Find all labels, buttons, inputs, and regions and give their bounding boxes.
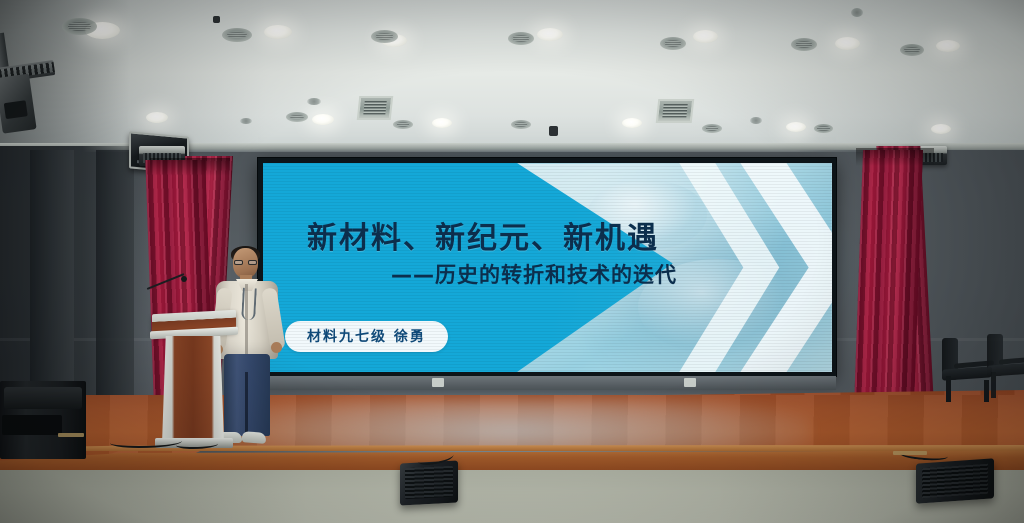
presenter-shoe-right [242, 431, 267, 444]
ceiling-vent-icon [393, 120, 413, 129]
ceiling-vent-icon [286, 112, 308, 122]
slide-viewport: 新材料、新纪元、新机遇 ——历史的转折和技术的迭代 材料九七级 徐勇 [263, 163, 832, 372]
ceiling-sensor-icon [240, 118, 252, 124]
ceiling-vent-icon [660, 37, 686, 50]
wooden-lectern [155, 312, 233, 444]
stage-edge-shim [893, 451, 927, 455]
ceiling-downlight-icon [622, 118, 642, 128]
slide-subtitle: ——历史的转折和技术的迭代 [391, 259, 808, 289]
ceiling-downlight-icon [931, 124, 951, 134]
ceiling-vent-icon [62, 18, 97, 35]
projector-housing [0, 74, 37, 134]
curtain-top-shadow-right [856, 148, 934, 166]
presenter-hand-right [271, 342, 282, 353]
floor-subwoofer [0, 381, 86, 459]
ceiling-sensor-icon [750, 117, 762, 124]
lectern-body [162, 336, 224, 444]
ceiling-vent-icon [222, 28, 252, 42]
ceiling-vent-icon [814, 124, 833, 133]
ceiling-downlight-icon [693, 30, 718, 43]
ceiling-vent-icon [900, 44, 924, 56]
ceiling-camera-icon [213, 16, 220, 23]
stage-monitor-speaker [400, 460, 458, 505]
auditorium-photo: 新材料、新纪元、新机遇 ——历史的转折和技术的迭代 材料九七级 徐勇 [0, 0, 1024, 523]
ceiling-vent-icon [511, 120, 531, 129]
ceiling-downlight-icon [786, 122, 806, 132]
slide-title: 新材料、新纪元、新机遇 [307, 213, 802, 257]
eyeglasses-icon [234, 260, 257, 265]
ceiling-downlight-icon [936, 40, 960, 52]
led-display-panel: 新材料、新纪元、新机遇 ——历史的转折和技术的迭代 材料九七级 徐勇 [258, 158, 836, 376]
ceiling-vent-icon [702, 124, 722, 133]
ceiling-sensor-icon [851, 8, 863, 17]
mic-capsule [181, 276, 187, 282]
ceiling-downlight-icon [264, 25, 292, 39]
ceiling-vent-icon [371, 30, 398, 43]
ceiling-downlight-icon [312, 114, 334, 125]
ceiling-downlight-icon [146, 112, 168, 123]
ceiling-downlight-icon [537, 28, 563, 41]
chair-leg [991, 372, 996, 398]
ceiling-downlight-icon [432, 118, 452, 128]
ceiling-sensor-icon [307, 98, 321, 105]
square-air-vent-icon [656, 99, 695, 123]
screen-base-clip [684, 378, 696, 387]
stage-monitor-speaker [916, 458, 994, 503]
screen-base-clip [432, 378, 444, 387]
chair-leg [946, 376, 951, 402]
presenter-lanyard [241, 288, 257, 321]
square-air-vent-icon [357, 96, 394, 120]
ceiling-vent-icon [508, 32, 534, 45]
stage-chair [985, 334, 1024, 396]
screen-base-trim [258, 376, 836, 390]
ceiling-camera-icon [549, 126, 558, 136]
ceiling [0, 0, 1024, 152]
hall-floor [0, 470, 1024, 523]
ceiling-vent-icon [791, 38, 817, 51]
curtain-top-shadow-left [150, 158, 230, 176]
slide-presenter-badge: 材料九七级 徐勇 [285, 321, 448, 352]
ceiling-downlight-icon [835, 37, 860, 50]
stage-edge-shim [58, 433, 84, 437]
